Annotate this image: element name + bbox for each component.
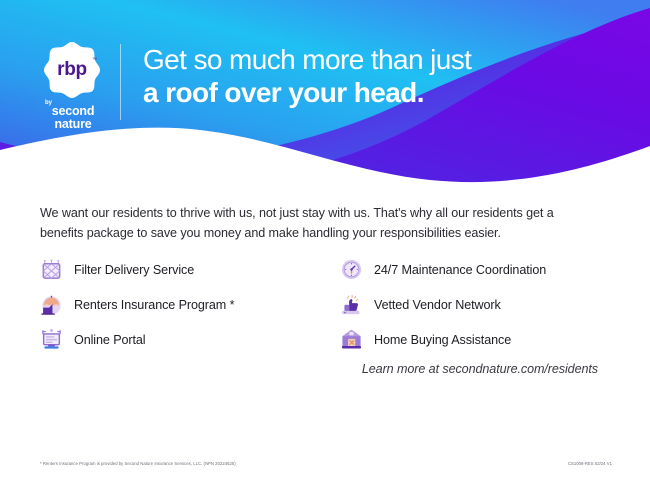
hero-headline: Get so much more than just a roof over y…: [143, 44, 613, 110]
benefit-item-vendor: Vetted Vendor Network: [340, 287, 610, 322]
benefit-label: Online Portal: [74, 333, 146, 347]
rbp-logo: rbp ™ by second nature: [34, 40, 112, 125]
benefit-label: 24/7 Maintenance Coordination: [374, 263, 546, 277]
logo-divider: [120, 44, 121, 120]
clock-icon: [340, 258, 363, 281]
headline-line-1: Get so much more than just: [143, 44, 613, 77]
nature-text: nature: [34, 118, 112, 131]
benefit-item-filter: Filter Delivery Service: [40, 252, 340, 287]
monitor-icon: [40, 328, 63, 351]
by-second-nature-lockup: by second nature: [34, 100, 112, 131]
benefit-item-portal: Online Portal: [40, 322, 340, 357]
house-icon: [340, 328, 363, 351]
intro-paragraph: We want our residents to thrive with us,…: [40, 203, 600, 244]
trademark-mark: ™: [92, 57, 97, 63]
rbp-badge-icon: rbp ™: [42, 40, 102, 100]
marketing-flyer: rbp ™ by second nature Get so much more …: [0, 0, 650, 488]
umbrella-icon: [40, 293, 63, 316]
filter-icon: [40, 258, 63, 281]
hero-banner: rbp ™ by second nature Get so much more …: [0, 0, 650, 190]
benefits-list: Filter Delivery Service 24/7 Maintenance…: [40, 252, 610, 357]
benefit-item-maintenance: 24/7 Maintenance Coordination: [340, 252, 610, 287]
benefit-label: Filter Delivery Service: [74, 263, 194, 277]
second-text: second: [34, 105, 112, 118]
benefit-label: Renters Insurance Program *: [74, 298, 234, 312]
footer-doc-code: CS1008-RES 02/24 V1: [568, 461, 612, 466]
learn-more-text[interactable]: Learn more at secondnature.com/residents: [362, 362, 598, 376]
headline-line-2: a roof over your head.: [143, 77, 613, 110]
benefit-label: Vetted Vendor Network: [374, 298, 501, 312]
benefit-label: Home Buying Assistance: [374, 333, 511, 347]
benefit-item-insurance: Renters Insurance Program *: [40, 287, 340, 322]
thumbs-up-icon: [340, 293, 363, 316]
footer-disclaimer: * Renters Insurance Program is provided …: [40, 461, 236, 466]
benefit-item-home-buying: Home Buying Assistance: [340, 322, 610, 357]
